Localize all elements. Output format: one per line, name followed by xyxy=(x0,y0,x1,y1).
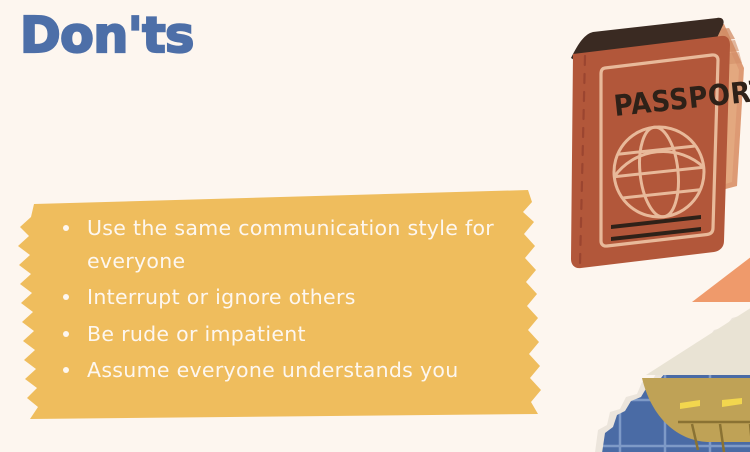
sail-top xyxy=(692,250,750,302)
donts-list: Use the same communication style for eve… xyxy=(60,212,530,390)
list-item-text: Use the same communication style for eve… xyxy=(87,216,494,273)
list-item-text: Interrupt or ignore others xyxy=(87,285,356,309)
slide-canvas: Don'ts PASSPORT xyxy=(0,0,750,452)
page-title: Don'ts xyxy=(20,8,194,64)
bullet-dot xyxy=(63,294,69,300)
list-item: Be rude or impatient xyxy=(60,318,530,351)
bottom-right-decoration xyxy=(560,250,750,452)
list-item-text: Assume everyone understands you xyxy=(87,358,459,382)
bullet-dot xyxy=(63,367,69,373)
list-item: Use the same communication style for eve… xyxy=(60,212,530,278)
bullet-dot xyxy=(63,225,69,231)
list-item: Assume everyone understands you xyxy=(60,354,530,387)
donts-banner: Use the same communication style for eve… xyxy=(8,186,556,424)
list-item: Interrupt or ignore others xyxy=(60,281,530,314)
bullet-dot xyxy=(63,331,69,337)
list-item-text: Be rude or impatient xyxy=(87,322,306,346)
passport-illustration: PASSPORT xyxy=(549,6,750,281)
sail-body xyxy=(646,302,750,375)
